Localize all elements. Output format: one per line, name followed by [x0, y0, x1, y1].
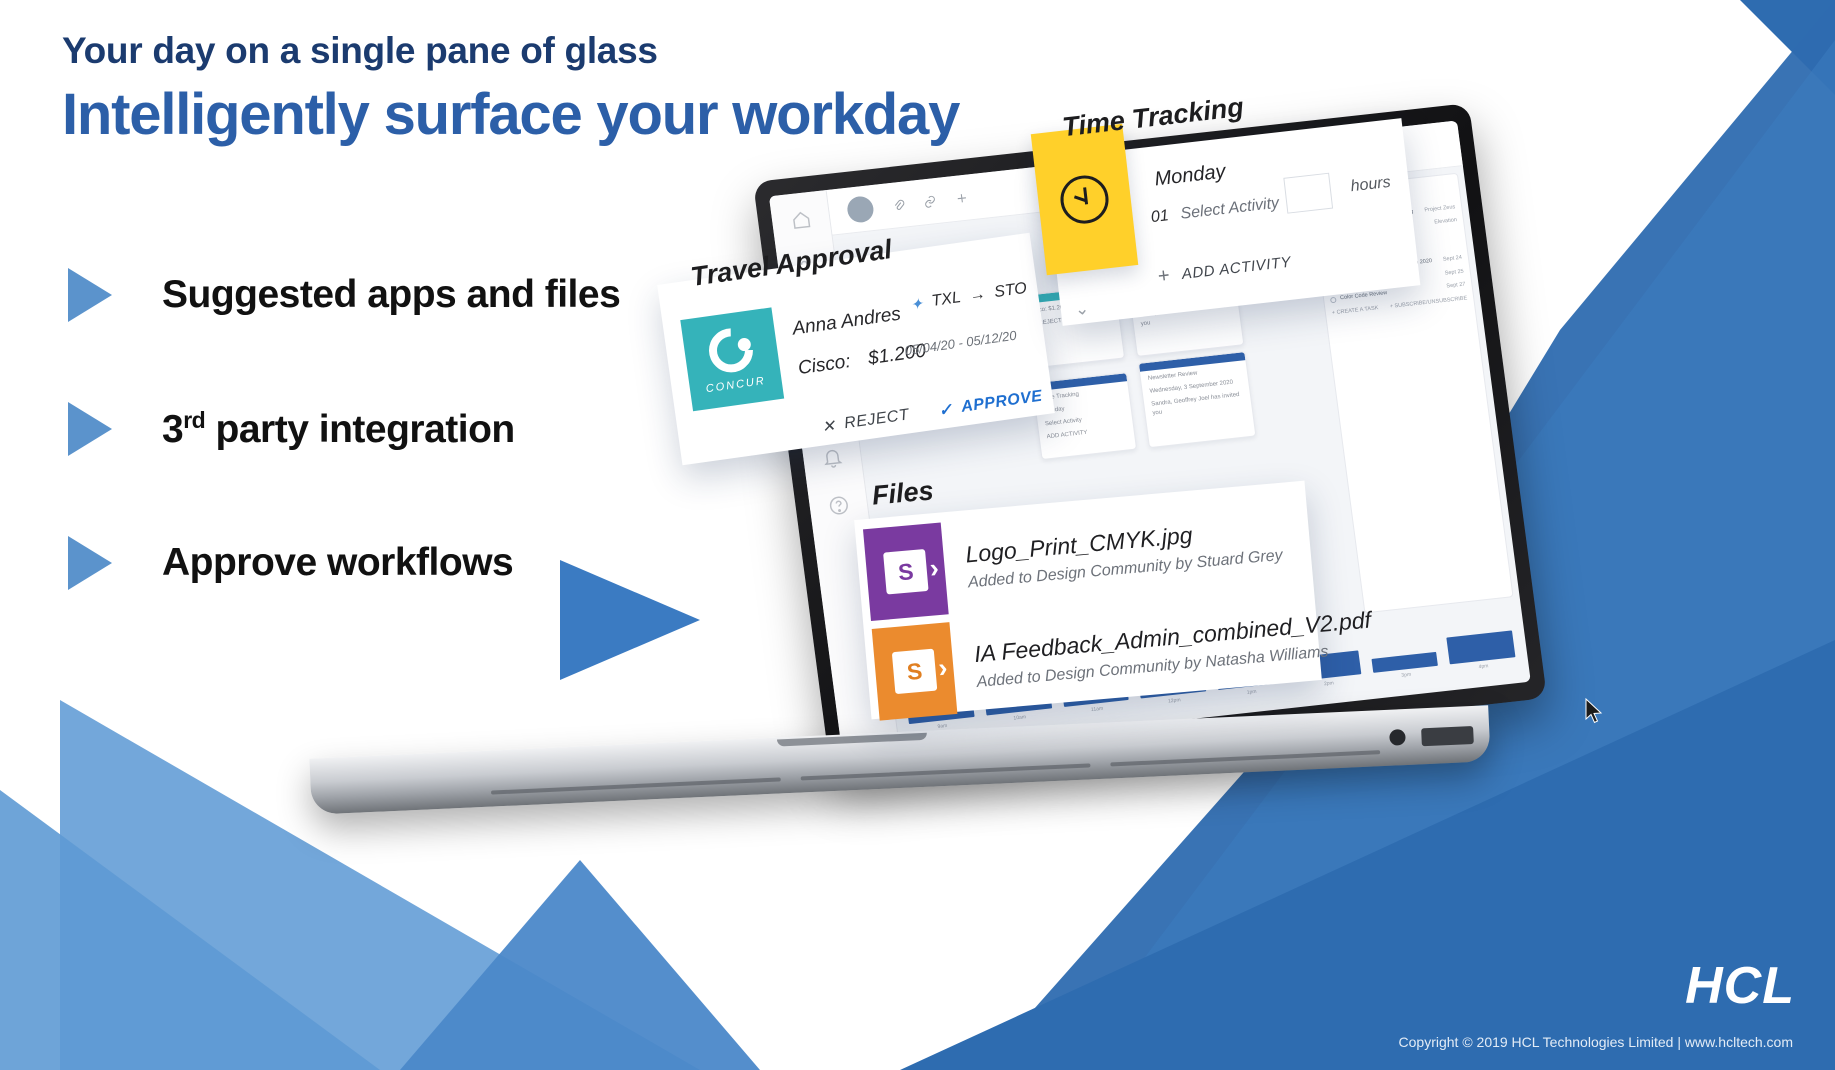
- bullet-label: Approve workflows: [162, 541, 513, 585]
- hours-input[interactable]: [1283, 173, 1333, 214]
- task-tag: Sept 25: [1444, 268, 1464, 276]
- sharepoint-glyph: S: [883, 549, 929, 595]
- avatar[interactable]: [846, 195, 875, 224]
- travel-vendor: Cisco:: [797, 351, 852, 379]
- copyright-text: Copyright © 2019 HCL Technologies Limite…: [1399, 1034, 1793, 1050]
- time-tracking-day: Monday: [1153, 160, 1226, 191]
- time-tracking-tile: [1031, 124, 1138, 276]
- route-arrow-icon: →: [968, 286, 986, 306]
- route-to: STO: [993, 280, 1028, 302]
- attachment-icon[interactable]: [890, 197, 906, 212]
- bullet-item-suggested-apps: Suggested apps and files: [68, 248, 620, 342]
- bullet-label-sup: rd: [183, 407, 205, 433]
- approve-button[interactable]: ✓ APPROVE: [937, 387, 1043, 421]
- help-icon[interactable]: [826, 493, 851, 517]
- sharepoint-glyph: S: [892, 649, 938, 695]
- check-icon: ✓: [937, 399, 954, 421]
- home-icon[interactable]: [788, 208, 813, 232]
- triangle-bullet-icon: [68, 536, 112, 590]
- bullet-label-pre: 3: [162, 408, 183, 451]
- concur-logo-icon: [700, 319, 762, 381]
- add-icon[interactable]: [954, 190, 970, 205]
- task-tag: Elevation: [1434, 217, 1457, 225]
- bullet-label: Suggested apps and files: [162, 273, 620, 317]
- add-activity-label: ADD ACTIVITY: [1181, 254, 1292, 283]
- activity-row-number: 01: [1150, 207, 1170, 227]
- slide-headline: Intelligently surface your workday: [62, 80, 959, 150]
- checkbox-icon[interactable]: [1330, 297, 1337, 304]
- sharepoint-icon: S: [863, 523, 949, 621]
- create-task-button[interactable]: + CREATE A TASK: [1332, 305, 1379, 316]
- link-icon[interactable]: [922, 194, 938, 209]
- headline-block: Your day on a single pane of glass Intel…: [62, 28, 959, 150]
- subscribe-button[interactable]: + SUBSCRIBE/UNSUBSCRIBE: [1389, 295, 1467, 309]
- travel-requester: Anna Andres: [791, 304, 902, 341]
- mini-card-newsletter[interactable]: Newsletter Review Wednesday, 3 September…: [1138, 351, 1257, 448]
- task-tag: Sept 24: [1443, 255, 1463, 263]
- chart-bar: [1447, 630, 1516, 664]
- bullet-item-approve-workflows: Approve workflows: [68, 516, 620, 610]
- files-title: Files: [871, 475, 935, 511]
- mouse-cursor-icon: [1584, 698, 1604, 726]
- hcl-logo: HCL: [1685, 956, 1795, 1016]
- clock-icon: [1058, 173, 1111, 226]
- file-meta: Logo_Print_CMYK.jpg Added to Design Comm…: [942, 514, 1283, 594]
- file-meta: IA Feedback_Admin_combined_V2.pdf Added …: [951, 606, 1374, 693]
- task-tag: Sept 27: [1446, 282, 1466, 290]
- route-from: TXL: [931, 289, 963, 311]
- travel-route: ✦ TXL → STO: [909, 280, 1028, 314]
- triangle-bullet-icon: [68, 402, 112, 456]
- files-card[interactable]: S Logo_Print_CMYK.jpg Added to Design Co…: [854, 481, 1322, 720]
- bullet-label-post: party integration: [205, 408, 515, 451]
- triangle-bullet-icon: [68, 268, 112, 322]
- hours-label: hours: [1350, 174, 1392, 196]
- concur-app-tile: CONCUR: [680, 307, 784, 411]
- close-icon: ✕: [820, 416, 837, 438]
- task-tag: Project Zeus: [1424, 204, 1455, 213]
- reject-label: REJECT: [843, 406, 910, 433]
- slide-kicker: Your day on a single pane of glass: [62, 28, 959, 74]
- add-activity-button[interactable]: + ADD ACTIVITY: [1156, 251, 1292, 289]
- approve-label: APPROVE: [960, 388, 1043, 417]
- concur-app-name: CONCUR: [705, 374, 766, 394]
- bullet-item-third-party: 3rd party integration: [68, 382, 620, 476]
- bullet-list: Suggested apps and files 3rd party integ…: [68, 248, 620, 650]
- activity-row[interactable]: 01 Select Activity ▾: [1150, 193, 1297, 227]
- travel-dates: 05/04/20 - 05/12/20: [904, 328, 1018, 359]
- activity-select[interactable]: Select Activity: [1180, 195, 1280, 224]
- bell-icon[interactable]: [820, 446, 845, 470]
- sharepoint-icon: S: [872, 622, 958, 720]
- plane-icon: ✦: [909, 294, 924, 314]
- reject-button[interactable]: ✕ REJECT: [820, 405, 910, 437]
- plus-icon: +: [1156, 264, 1171, 288]
- bullet-label: 3rd party integration: [162, 407, 515, 452]
- expand-chevron-icon[interactable]: ⌄: [1074, 299, 1090, 320]
